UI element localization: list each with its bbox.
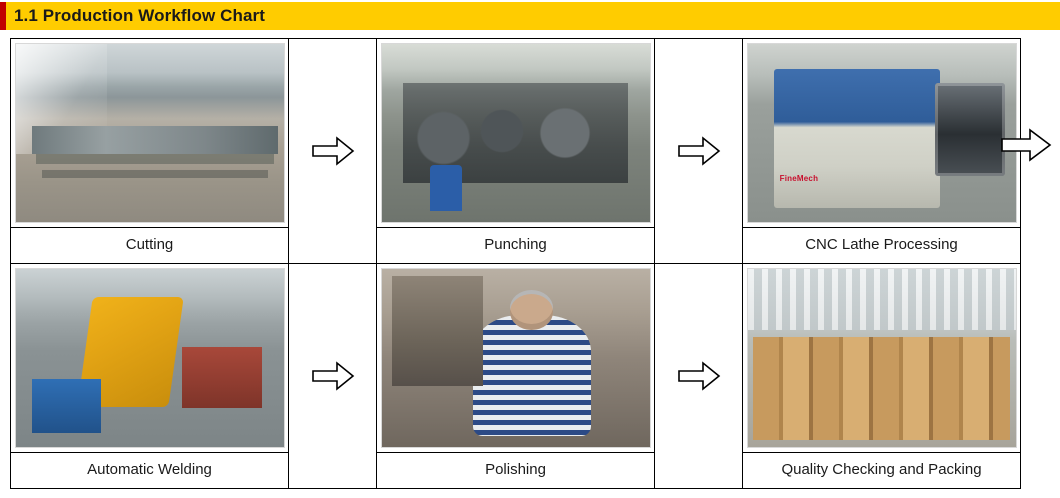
right-arrow-icon <box>677 361 721 391</box>
table-row: FineMech <box>11 39 1021 228</box>
step-caption: CNC Lathe Processing <box>743 232 1020 259</box>
step-caption-cell-punching: Punching <box>377 228 655 264</box>
step-caption-cell-cnc: CNC Lathe Processing <box>743 228 1021 264</box>
flow-continuation-arrow <box>1000 128 1052 162</box>
photo-punching <box>381 43 651 223</box>
step-image-cell-packing <box>743 264 1021 453</box>
step-image-cell-punching <box>377 39 655 228</box>
step-caption: Punching <box>377 232 654 259</box>
photo-cutting <box>15 43 285 223</box>
step-caption-cell-welding: Automatic Welding <box>11 453 289 489</box>
step-caption: Cutting <box>11 232 288 259</box>
page-title: 1.1 Production Workflow Chart <box>6 6 265 26</box>
cnc-machine-brand-label: FineMech <box>780 174 819 183</box>
table-row <box>11 264 1021 453</box>
step-image-cell-polishing <box>377 264 655 453</box>
production-workflow-page: 1.1 Production Workflow Chart <box>0 0 1060 498</box>
right-arrow-icon <box>677 136 721 166</box>
table-row: Automatic Welding Polishing Quality Chec… <box>11 453 1021 489</box>
step-caption: Polishing <box>377 457 654 484</box>
step-caption-cell-packing: Quality Checking and Packing <box>743 453 1021 489</box>
step-caption: Automatic Welding <box>11 457 288 484</box>
workflow-table: FineMech Cutting Punching CNC Lathe Proc… <box>10 38 1021 489</box>
photo-polishing <box>381 268 651 448</box>
photo-cnc-lathe: FineMech <box>747 43 1017 223</box>
table-row: Cutting Punching CNC Lathe Processing <box>11 228 1021 264</box>
section-title-bar: 1.1 Production Workflow Chart <box>0 2 1060 30</box>
step-caption: Quality Checking and Packing <box>743 457 1020 484</box>
step-image-cell-welding <box>11 264 289 453</box>
arrow-cell-2 <box>655 39 743 264</box>
right-arrow-icon <box>311 361 355 391</box>
photo-automatic-welding <box>15 268 285 448</box>
step-image-cell-cutting <box>11 39 289 228</box>
arrow-cell-4 <box>655 264 743 489</box>
photo-quality-checking-packing <box>747 268 1017 448</box>
step-caption-cell-cutting: Cutting <box>11 228 289 264</box>
arrow-cell-1 <box>289 39 377 264</box>
step-image-cell-cnc: FineMech <box>743 39 1021 228</box>
right-arrow-icon <box>311 136 355 166</box>
step-caption-cell-polishing: Polishing <box>377 453 655 489</box>
arrow-cell-3 <box>289 264 377 489</box>
